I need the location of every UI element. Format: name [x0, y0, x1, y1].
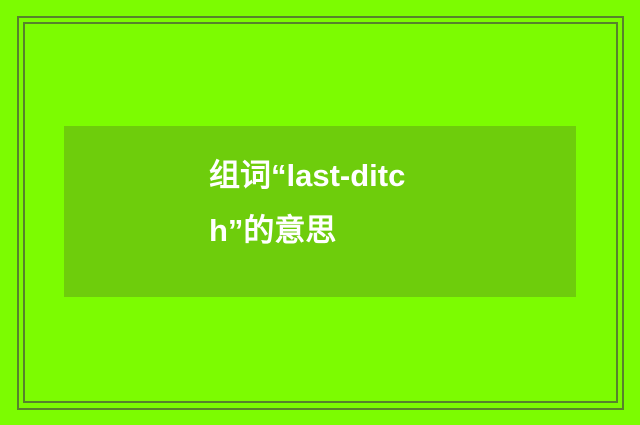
text-panel: 组词“last-ditch”的意思 — [64, 126, 576, 297]
panel-title: 组词“last-ditch”的意思 — [209, 148, 469, 258]
image-card: 组词“last-ditch”的意思 — [0, 0, 640, 425]
